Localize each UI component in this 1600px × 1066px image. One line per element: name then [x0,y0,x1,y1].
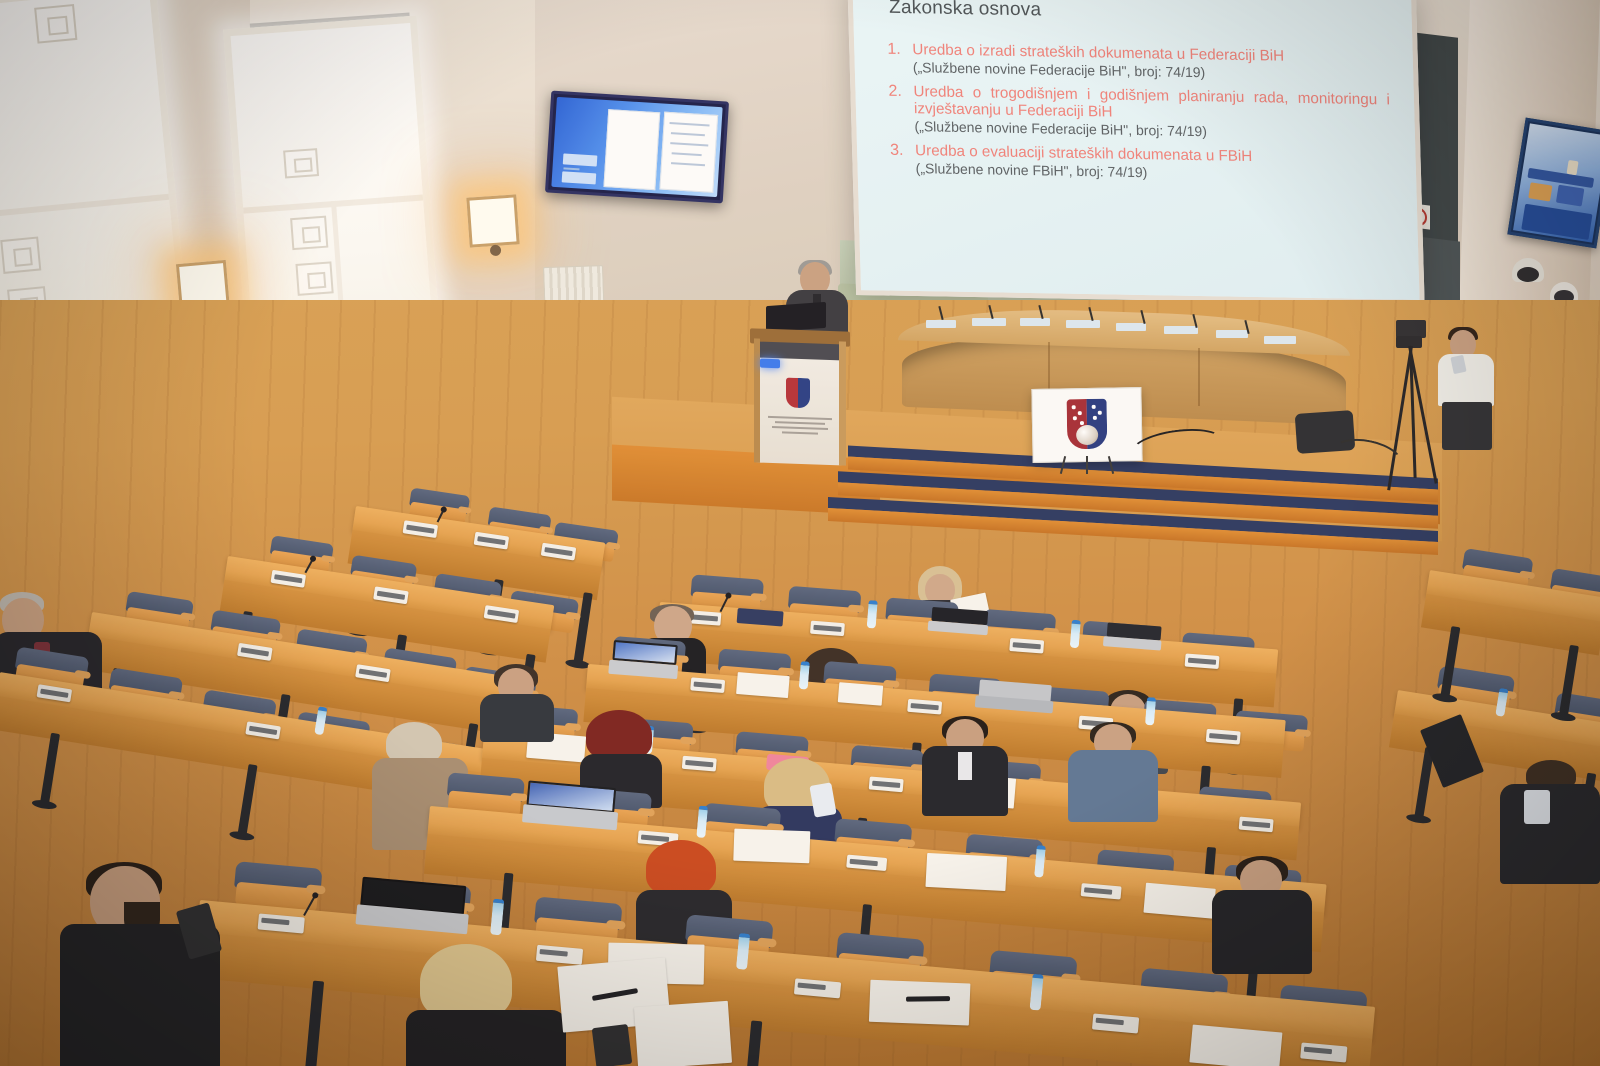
slide-item-2: 2. Uredba o trogodišnjem i godišnjem pla… [913,83,1391,143]
presentation-slide: Zakonska osnova 1. Uredba o izradi strat… [852,0,1419,300]
attendee-row-g-1 [480,664,554,738]
slide-bullet-list: 1. Uredba o izradi strateških dokumenata… [884,41,1398,185]
attendee-right-edge [1500,760,1600,880]
wall-mounted-display[interactable] [545,91,729,204]
cameraman-person [1438,330,1494,450]
attendee-front-blonde-woman [406,944,566,1066]
laptop[interactable] [611,640,678,679]
laptop[interactable] [931,607,989,635]
slide-title: Zakonska osnova [889,0,1394,28]
floor-banner-stand [1031,387,1142,463]
attendee-suit-man [922,716,1008,812]
podium-inscription [768,413,832,438]
papers [733,829,810,864]
papers [1189,1024,1282,1066]
podium-led-indicator [760,359,780,369]
right-monitor-screen [1513,123,1600,242]
bih-coat-of-arms-icon [1067,399,1108,450]
microphone-console[interactable] [1239,817,1274,833]
slide-item-2-number: 2. [888,83,902,101]
laptop[interactable] [358,877,466,934]
microphone-console[interactable] [682,756,717,772]
laptop[interactable] [525,780,616,830]
phone[interactable] [592,1024,633,1066]
conference-hall-photo: Zakonska osnova 1. Uredba o izradi strat… [0,0,1600,1066]
microphone-console[interactable] [810,621,845,637]
podium-crest-icon [786,378,810,409]
laptop[interactable] [978,679,1052,713]
wall-display-screen [551,97,722,197]
wall-sconce-center [466,194,519,247]
microphone-console[interactable] [690,677,725,693]
attendee-light-blue-shirt [1068,722,1158,818]
attendee-front-left-man [60,862,220,1066]
desk-row-right-upper [1430,570,1600,598]
papers [869,980,971,1026]
banner-stand-legs [1062,456,1112,476]
microphone-console[interactable] [1206,729,1241,745]
papers [1143,883,1215,919]
laptop[interactable] [1106,622,1162,650]
microphone-console[interactable] [907,699,942,715]
microphone-console[interactable] [1185,653,1220,669]
slide-item-1: 1. Uredba o izradi strateških dokumenata… [912,41,1389,84]
pen [906,996,950,1002]
podium-laptop [766,302,826,332]
attendee-right-front-man [1212,856,1312,966]
microphone-console[interactable] [869,776,904,792]
microphone-console[interactable] [1009,638,1044,654]
papers [634,1001,732,1066]
dome-camera-icon [1512,258,1544,282]
phone-right-edge[interactable] [1524,790,1550,824]
speaker-podium [754,328,846,465]
papers [838,682,883,705]
papers [736,672,790,698]
slide-item-3-number: 3. [890,141,904,159]
slide-item-3: 3. Uredba o evaluaciji strateških dokume… [915,142,1392,185]
papers [925,853,1007,891]
projection-screen: Zakonska osnova 1. Uredba o izradi strat… [847,0,1424,305]
slide-item-1-number: 1. [887,41,901,59]
